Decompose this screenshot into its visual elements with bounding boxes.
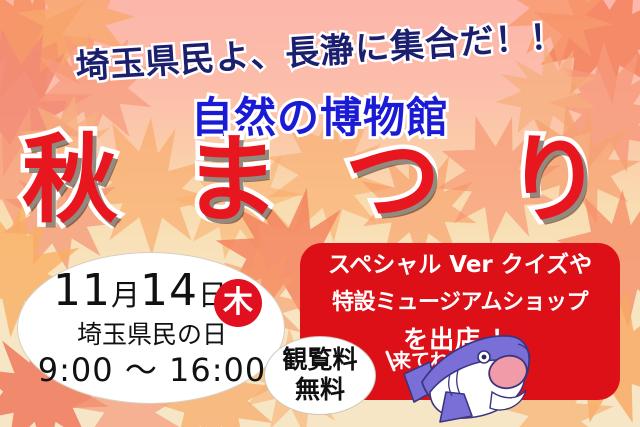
promo-line-2: 特設ミュージアムショップ	[300, 284, 620, 321]
shark-mascot-icon	[400, 330, 535, 427]
day-of-week-badge: 木	[214, 279, 262, 327]
admission-text-block: 観覧料 無料	[264, 345, 376, 405]
date-panel: 11月14日 埼玉県民の日 9:00 ～ 16:00	[17, 252, 285, 404]
admission-value: 無料	[264, 375, 376, 405]
poster-headline: 埼玉県民よ、長瀞に集合だ！！	[0, 4, 640, 93]
main-title: 秋 ま つ り	[0, 132, 640, 228]
date-month-number: 11	[53, 265, 111, 316]
date-month-unit: 月	[111, 278, 140, 312]
date-day-number: 14	[140, 265, 198, 316]
opening-hours: 9:00 ～ 16:00	[18, 352, 286, 388]
event-poster: 埼玉県民よ、長瀞に集合だ！！ 自然の博物館 秋 ま つ り 11月14日 埼玉県…	[0, 0, 640, 427]
promo-line-1: スペシャル Ver クイズや	[300, 247, 620, 284]
admission-label: 観覧料	[264, 345, 376, 375]
